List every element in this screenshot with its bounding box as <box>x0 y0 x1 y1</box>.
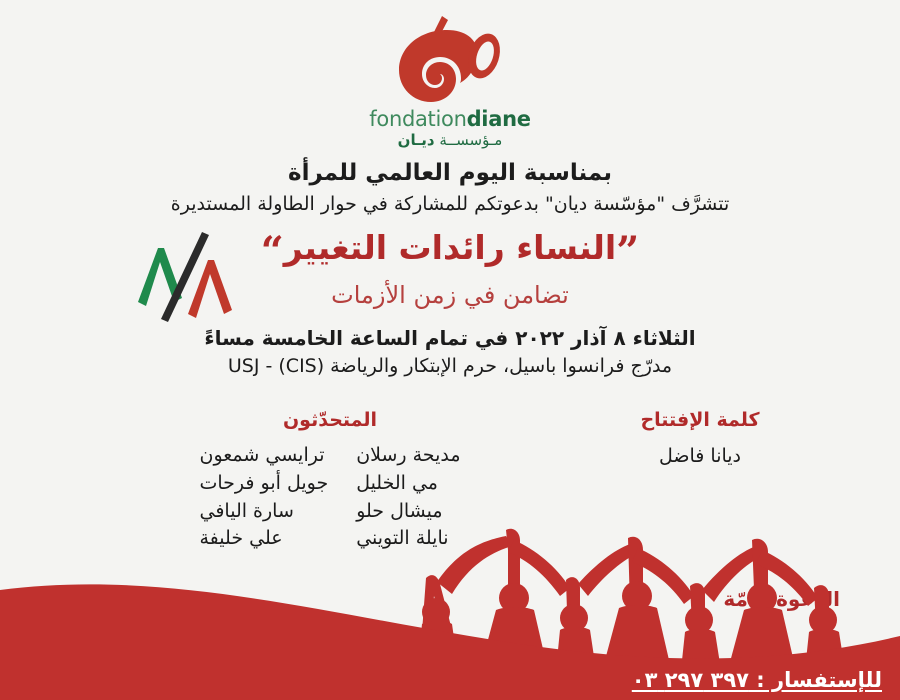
brand-logo: fondationdiane مـؤسســة ديـان <box>0 14 900 149</box>
speaker-name: ترايسي شمعون <box>200 442 329 470</box>
event-subtitle: تضامن في زمن الأزمات <box>215 279 685 311</box>
quote-open-glyph: ” <box>616 228 639 275</box>
logo-wordmark-arabic: مـؤسســة ديـان <box>0 131 900 149</box>
eight-slash-eight-graphic <box>130 230 240 326</box>
contact-phone: للإستفسار : ٣٩٧ ٢٩٧ ٠٣ <box>632 668 882 692</box>
speaker-name: مي الخليل <box>356 470 460 498</box>
speakers-heading: المتحدّثون <box>130 408 530 433</box>
quote-close-glyph: “ <box>261 228 284 275</box>
poster: fondationdiane مـؤسســة ديـان بمناسبة ال… <box>0 0 900 700</box>
event-title-block: ”النساء رائدات التغيير“ تضامن في زمن الأ… <box>215 228 685 311</box>
when-where-block: الثلاثاء ٨ آذار ٢٠٢٢ في تمام الساعة الخا… <box>0 324 900 381</box>
logo-word-diane: diane <box>467 107 531 131</box>
logo-word-ar-diane: ديـان <box>398 131 435 149</box>
crowd-silhouette-with-red-wave: للإستفسار : ٣٩٧ ٢٩٧ ٠٣ <box>0 520 900 700</box>
occasion-block: بمناسبة اليوم العالمي للمرأة تتشرَّف "مؤ… <box>0 158 900 218</box>
event-venue: مدرّج فرانسوا باسيل، حرم الإبتكار والريا… <box>0 353 900 381</box>
speaker-name: جويل أبو فرحات <box>200 470 329 498</box>
speaker-name: مديحة رسلان <box>356 442 460 470</box>
title-row: ”النساء رائدات التغيير“ تضامن في زمن الأ… <box>0 228 900 318</box>
logo-word-ar-foundation: مـؤسســة <box>435 131 503 149</box>
opening-remarks-section: كلمة الإفتتاح ديانا فاضل <box>555 408 845 471</box>
event-datetime: الثلاثاء ٨ آذار ٢٠٢٢ في تمام الساعة الخا… <box>0 324 900 352</box>
event-title-text: النساء رائدات التغيير <box>284 228 617 267</box>
logo-wordmark-latin: fondationdiane <box>0 108 900 130</box>
opening-remarks-heading: كلمة الإفتتاح <box>555 408 845 433</box>
occasion-subline: تتشرَّف "مؤسّسة ديان" بدعوتكم للمشاركة ف… <box>0 191 900 218</box>
fondation-diane-spiral-logo <box>385 14 515 106</box>
logo-word-fondation: fondation <box>369 107 466 131</box>
event-title: ”النساء رائدات التغيير“ <box>215 228 685 276</box>
occasion-headline: بمناسبة اليوم العالمي للمرأة <box>0 158 900 189</box>
opening-speaker-name: ديانا فاضل <box>555 443 845 471</box>
